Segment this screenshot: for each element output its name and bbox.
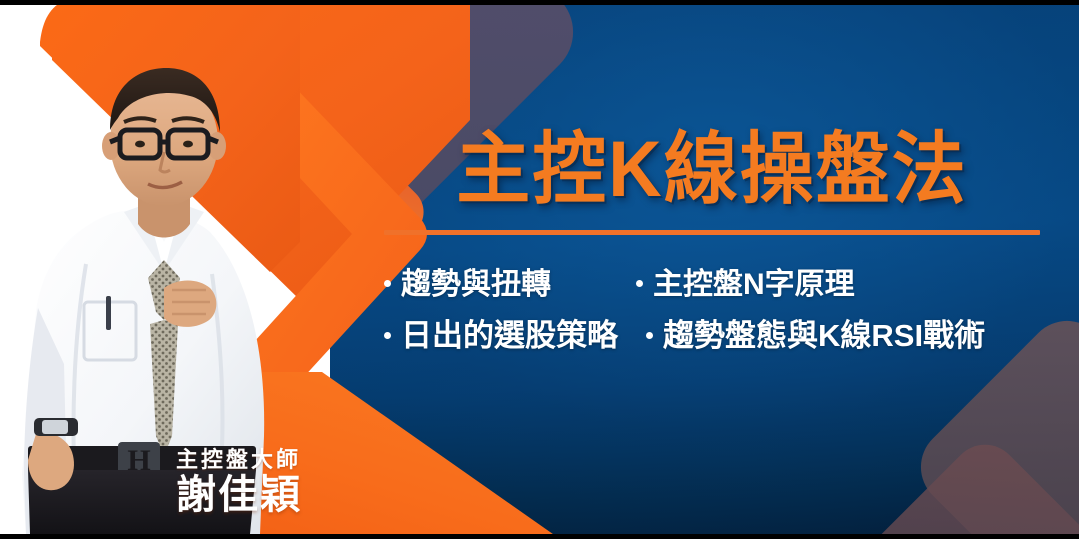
title-divider	[384, 230, 1040, 235]
page-title: 主控K線操盤法	[384, 128, 1040, 210]
bullet-list: 趨勢與扭轉 主控盤N字原理 日出的選股策略 趨勢盤態與K線RSI戰術	[384, 259, 1040, 355]
bullet-text: 日出的選股策略	[401, 310, 618, 355]
speaker-nameplate: 主控盤大師 謝佳穎	[176, 449, 302, 515]
bullet-row: 趨勢與扭轉 主控盤N字原理	[384, 259, 1040, 303]
list-item: 趨勢盤態與K線RSI戰術	[646, 310, 985, 355]
bullet-dot-icon	[646, 332, 653, 339]
bullet-dot-icon	[636, 280, 643, 287]
bullet-dot-icon	[384, 332, 391, 339]
list-item: 趨勢與扭轉	[384, 259, 636, 303]
speaker-role: 主控盤大師	[176, 449, 302, 471]
bullet-text: 主控盤N字原理	[653, 259, 855, 303]
top-black-bar	[0, 0, 1079, 5]
bottom-black-bar	[0, 534, 1079, 539]
list-item: 主控盤N字原理	[636, 259, 855, 303]
bullet-text: 趨勢盤態與K線RSI戰術	[663, 310, 985, 355]
bullet-dot-icon	[384, 280, 391, 287]
list-item: 日出的選股策略	[384, 310, 646, 355]
promo-banner: H 主控盤大師 謝佳穎 主控K線操盤法 趨勢與扭轉 主控盤	[0, 0, 1079, 539]
content-column: 主控K線操盤法 趨勢與扭轉 主控盤N字原理 日出的選股策略	[384, 128, 1040, 355]
speaker-name: 謝佳穎	[176, 475, 302, 515]
bullet-text: 趨勢與扭轉	[401, 259, 551, 303]
bullet-row: 日出的選股策略 趨勢盤態與K線RSI戰術	[384, 310, 1040, 355]
